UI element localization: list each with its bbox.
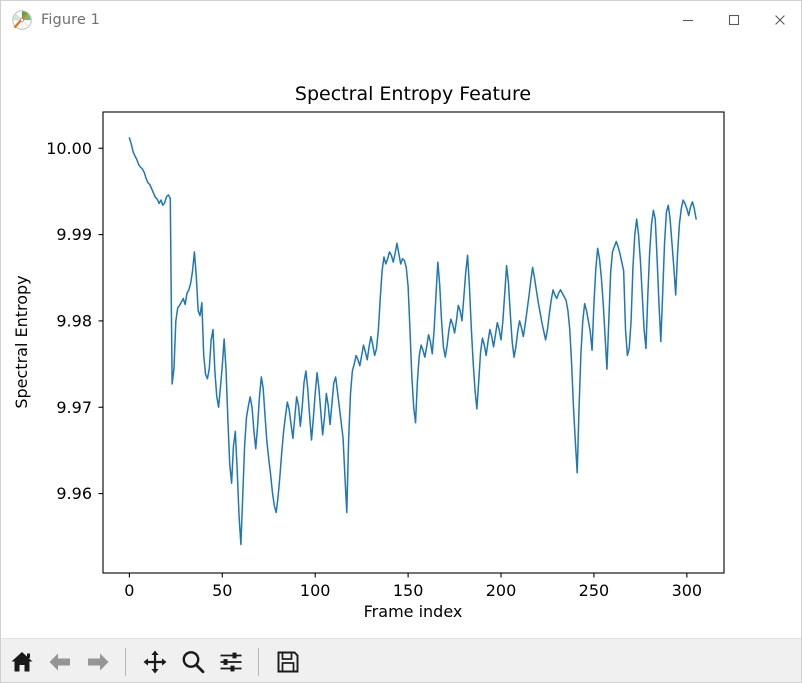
spectral-entropy-chart: Spectral Entropy Feature 050100150200250… — [1, 39, 802, 638]
y-tick-label: 9.97 — [56, 398, 92, 417]
window-title: Figure 1 — [41, 12, 100, 28]
x-tick-label: 200 — [486, 581, 517, 600]
maximize-icon — [727, 13, 741, 27]
figure-window: Figure 1 Spec — [0, 0, 802, 683]
y-tick-label: 9.96 — [56, 484, 92, 503]
zoom-button[interactable] — [176, 643, 210, 681]
y-tick-label: 9.99 — [56, 225, 92, 244]
minimize-button[interactable] — [665, 1, 711, 39]
move-arrows-icon — [142, 649, 168, 675]
maximize-button[interactable] — [711, 1, 757, 39]
toolbar-separator-2 — [258, 648, 259, 676]
close-icon — [773, 13, 787, 27]
window-controls — [665, 1, 802, 39]
sliders-icon — [218, 649, 244, 675]
x-tick-label: 100 — [300, 581, 331, 600]
pan-button[interactable] — [138, 643, 172, 681]
home-button[interactable] — [5, 643, 39, 681]
x-axis-label: Frame index — [364, 602, 463, 621]
matplotlib-icon — [11, 9, 33, 31]
back-button[interactable] — [43, 643, 77, 681]
magnifier-icon — [180, 649, 206, 675]
y-tick-label: 10.00 — [46, 139, 92, 158]
navigation-toolbar — [1, 638, 802, 683]
forward-button[interactable] — [81, 643, 115, 681]
floppy-disk-icon — [275, 649, 301, 675]
x-tick-label: 0 — [124, 581, 134, 600]
window-titlebar: Figure 1 — [1, 1, 802, 40]
save-button[interactable] — [271, 643, 305, 681]
arrow-left-icon — [47, 649, 73, 675]
x-tick-label: 300 — [672, 581, 703, 600]
x-tick-label: 50 — [212, 581, 232, 600]
configure-subplots-button[interactable] — [214, 643, 248, 681]
figure-canvas[interactable]: Spectral Entropy Feature 050100150200250… — [1, 39, 802, 638]
toolbar-separator-1 — [125, 648, 126, 676]
home-icon — [9, 649, 35, 675]
minimize-icon — [681, 13, 695, 27]
x-tick-label: 150 — [393, 581, 424, 600]
arrow-right-icon — [85, 649, 111, 675]
x-tick-label: 250 — [579, 581, 610, 600]
chart-title: Spectral Entropy Feature — [295, 83, 531, 105]
y-tick-label: 9.98 — [56, 312, 92, 331]
close-button[interactable] — [757, 1, 802, 39]
y-axis-label: Spectral Entropy — [12, 275, 31, 408]
